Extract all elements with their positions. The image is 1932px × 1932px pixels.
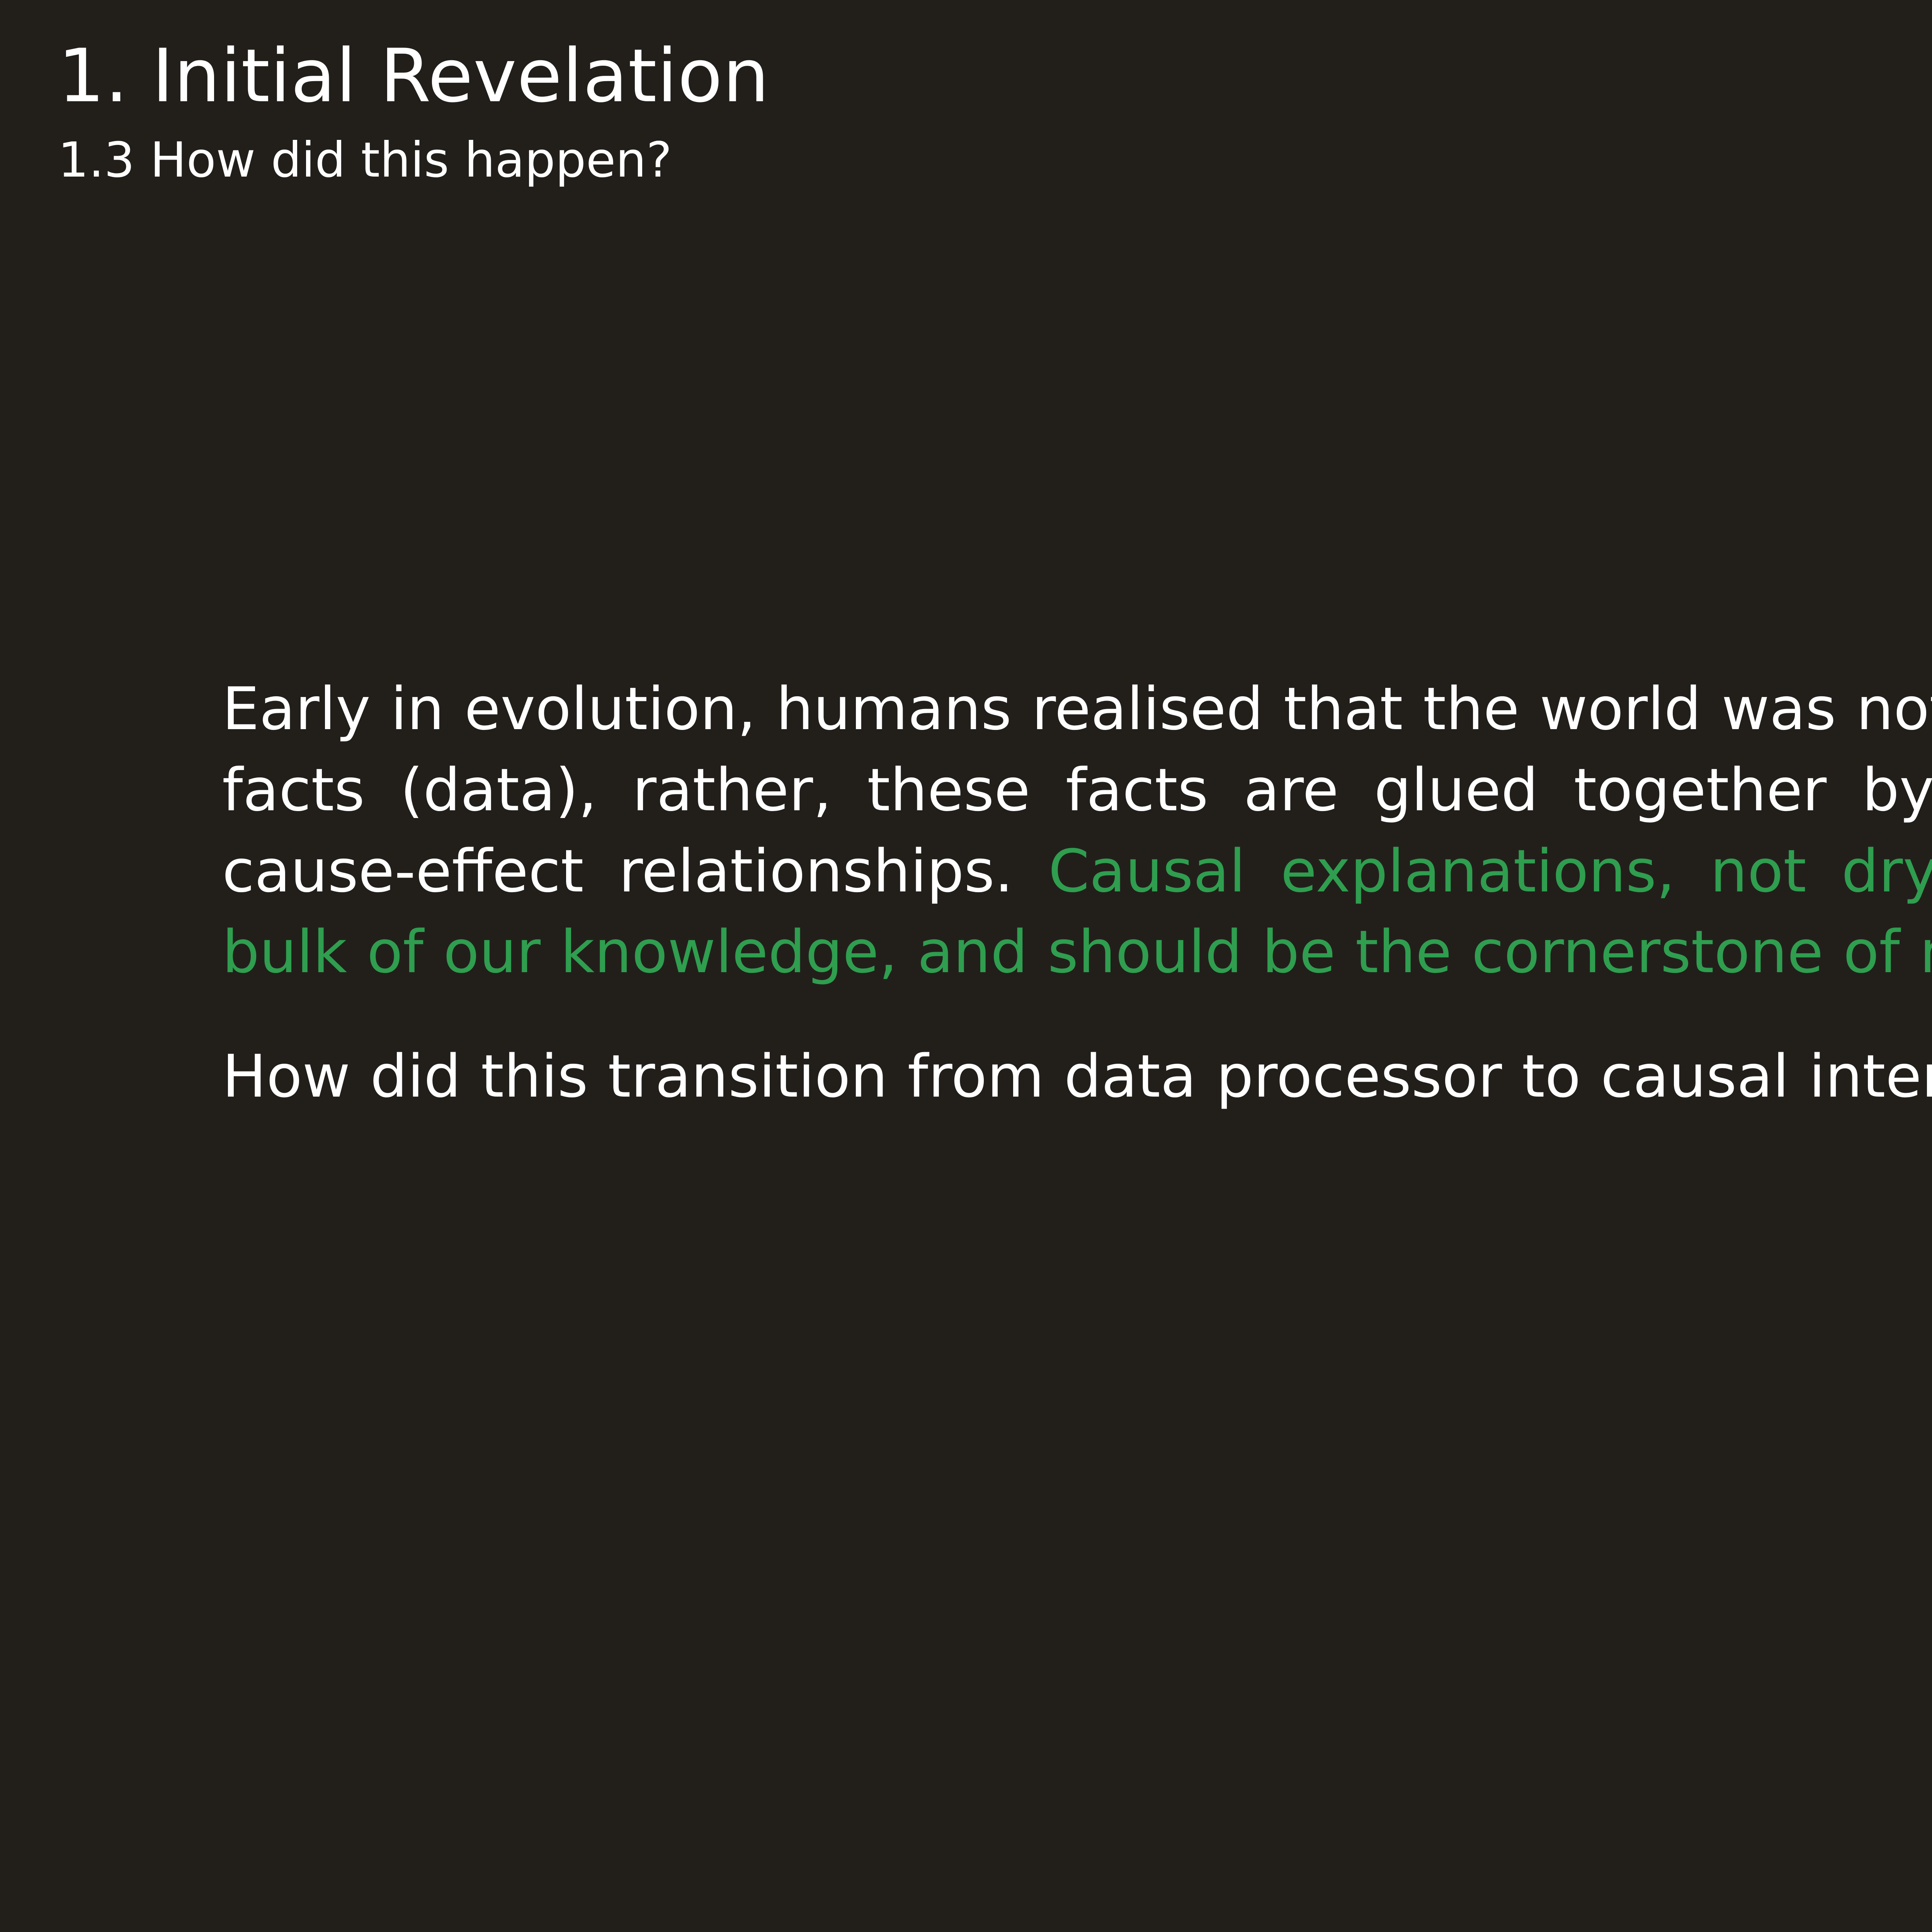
page-subtitle: 1.3 How did this happen? xyxy=(58,135,1932,185)
page-title: 1. Initial Revelation xyxy=(58,39,1932,114)
slide-body: Early in evolution, humans realised that… xyxy=(222,668,1932,1117)
body-paragraph-1: Early in evolution, humans realised that… xyxy=(222,668,1932,993)
slide-header: 1. Initial Revelation 1.3 How did this h… xyxy=(0,0,1932,185)
body-paragraph-2: How did this transition from data proces… xyxy=(222,1036,1932,1117)
paragraph-2-segment-normal-1: How did this transition from data proces… xyxy=(222,1042,1932,1111)
